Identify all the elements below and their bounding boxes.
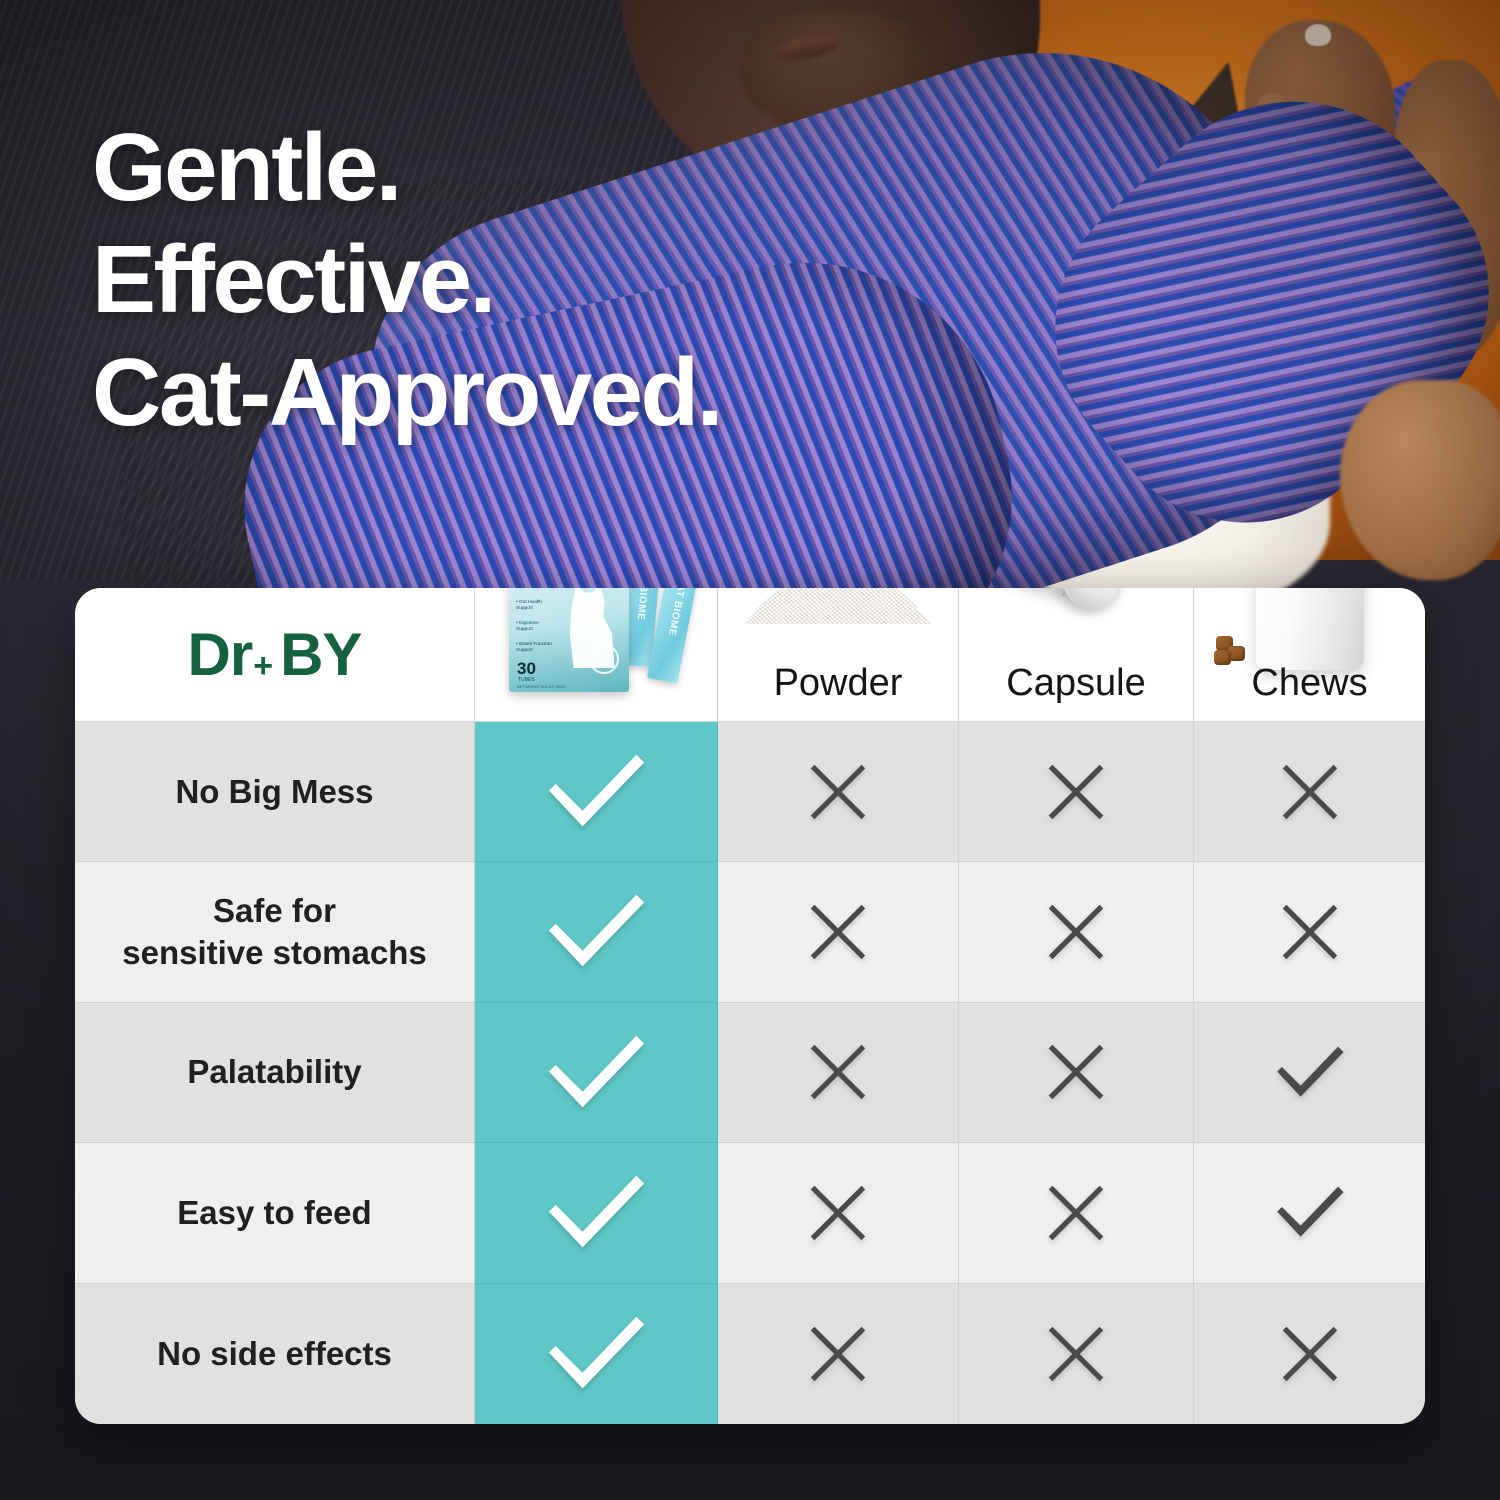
- column-label-capsule: Capsule: [959, 662, 1193, 705]
- comparison-table: Dr+BYDr. BYCAT BIOMEDr. BYCAT BIOMEDaily…: [75, 588, 1425, 1424]
- cell-brand: [475, 722, 718, 862]
- row-label-cell: Palatability: [75, 1003, 475, 1143]
- box-bullet: • Digestive Support: [516, 621, 539, 633]
- capsule-front: [1017, 588, 1129, 620]
- cell-chews: [1194, 862, 1425, 1002]
- box-dna-icon: [589, 644, 619, 674]
- cell-powder: [718, 862, 959, 1002]
- row-label-cell: Easy to feed: [75, 1143, 475, 1283]
- box-bullet: • Gut Health Support: [516, 600, 542, 612]
- cell-capsule: [959, 1284, 1194, 1424]
- column-header-capsule: Capsule: [959, 588, 1194, 722]
- cell-brand: [475, 862, 718, 1002]
- brand-cell: Dr+BY: [75, 588, 475, 722]
- cell-capsule: [959, 1003, 1194, 1143]
- row-label: Safe forsensitive stomachs: [102, 890, 446, 974]
- cell-capsule: [959, 862, 1194, 1002]
- check-icon: [540, 1169, 652, 1256]
- cell-chews: [1194, 722, 1425, 862]
- headline-line-2: Effective.: [92, 224, 952, 336]
- check-icon: [1271, 1182, 1349, 1243]
- brand-suffix: BY: [280, 620, 361, 689]
- cross-icon: [1045, 1182, 1107, 1244]
- cell-chews: [1194, 1003, 1425, 1143]
- row-label-cell: No side effects: [75, 1284, 475, 1424]
- cell-capsule: [959, 1143, 1194, 1283]
- check-icon: [540, 1029, 652, 1116]
- sachet-label: CAT BIOME: [665, 588, 687, 637]
- cross-icon: [1279, 1323, 1341, 1385]
- cell-brand: [475, 1003, 718, 1143]
- box-count: 30: [517, 661, 536, 676]
- check-icon: [540, 888, 652, 975]
- column-header-brand: Dr. BYCAT BIOMEDr. BYCAT BIOMEDaily Care…: [475, 588, 718, 722]
- cat-biome-box-image: Dr. BYCAT BIOMEDr. BYCAT BIOMEDaily Care…: [475, 588, 717, 721]
- cell-chews: [1194, 1284, 1425, 1424]
- row-label: Easy to feed: [157, 1192, 391, 1234]
- brand-name: Dr: [188, 620, 253, 689]
- column-label-chews: Chews: [1194, 662, 1425, 705]
- check-icon: [1271, 1042, 1349, 1103]
- box-count-unit: TUBES: [518, 677, 535, 683]
- cell-powder: [718, 1143, 959, 1283]
- check-icon: [540, 1310, 652, 1397]
- cross-icon: [1045, 1041, 1107, 1103]
- column-header-powder: Powder: [718, 588, 959, 722]
- cross-icon: [807, 761, 869, 823]
- column-label-powder: Powder: [718, 662, 958, 705]
- cell-chews: [1194, 1143, 1425, 1283]
- check-icon: [540, 748, 652, 835]
- headline-line-3: Cat-Approved.: [92, 337, 952, 449]
- cell-brand: [475, 1143, 718, 1283]
- cross-icon: [1279, 901, 1341, 963]
- comparison-grid: Dr+BYDr. BYCAT BIOMEDr. BYCAT BIOMEDaily…: [75, 588, 1425, 1424]
- cross-icon: [807, 901, 869, 963]
- brand-plus-icon: +: [253, 647, 272, 686]
- row-label-cell: Safe forsensitive stomachs: [75, 862, 475, 1002]
- chews-bottle: [1256, 588, 1364, 670]
- cross-icon: [1045, 901, 1107, 963]
- cell-powder: [718, 1284, 959, 1424]
- cell-powder: [718, 1003, 959, 1143]
- cross-icon: [807, 1182, 869, 1244]
- headline-line-1: Gentle.: [92, 112, 952, 224]
- cell-capsule: [959, 722, 1194, 862]
- row-label-cell: No Big Mess: [75, 722, 475, 862]
- cross-icon: [807, 1323, 869, 1385]
- column-header-chews: Chews: [1194, 588, 1425, 722]
- box-bullet: • Bowel Function Support: [516, 642, 552, 654]
- box-net-weight: NET WEIGHT 10.5 OZ (300G): [517, 685, 566, 689]
- page-title: Gentle. Effective. Cat-Approved.: [92, 112, 952, 449]
- brand-logo: Dr+BY: [188, 620, 362, 689]
- sachet-label: CAT BIOME: [634, 588, 650, 621]
- cross-icon: [807, 1041, 869, 1103]
- powder-texture: [745, 588, 931, 624]
- row-label: No Big Mess: [155, 771, 393, 813]
- row-label: Palatability: [167, 1051, 381, 1093]
- cross-icon: [1045, 1323, 1107, 1385]
- cross-icon: [1279, 761, 1341, 823]
- cross-icon: [1045, 761, 1107, 823]
- cat-biome-box: Daily Cares for Your CatCATBIOME• With L…: [509, 588, 629, 692]
- cell-powder: [718, 722, 959, 862]
- cell-brand: [475, 1284, 718, 1424]
- row-label: No side effects: [137, 1333, 412, 1375]
